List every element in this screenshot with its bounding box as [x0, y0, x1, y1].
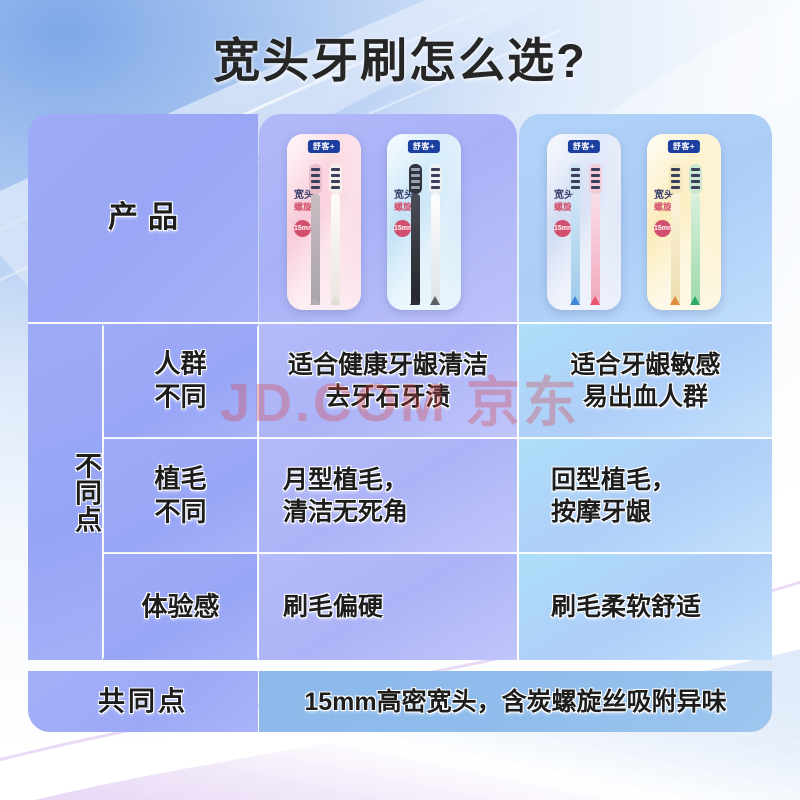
brush-tip	[410, 296, 420, 305]
brush-handle	[331, 194, 340, 304]
brush-yellow-1	[669, 164, 682, 304]
row-value-text: 适合牙龈敏感 易出血人群	[519, 349, 772, 413]
page-root: 宽头牙刷怎么选? 产品 舒客+ 宽头 螺旋 15mm	[0, 0, 800, 800]
brush-peri-1	[569, 164, 582, 304]
brush-head	[329, 164, 342, 194]
common-value-text: 15mm高密宽头，含炭螺旋丝吸附异味	[259, 686, 772, 718]
brush-head	[569, 164, 582, 194]
row-label-text: 植毛 不同	[103, 463, 258, 530]
brush-head	[309, 164, 322, 194]
brush-blue-1	[409, 164, 422, 304]
brush-tip	[310, 296, 320, 305]
brush-handle	[311, 194, 320, 304]
brush-blue-2	[429, 164, 442, 304]
brand-logo-yellow: 舒客+	[668, 140, 700, 153]
brand-logo-periwinkle: 舒客+	[568, 140, 600, 153]
brush-handle	[571, 194, 580, 304]
brush-head	[429, 164, 442, 194]
brush-head	[409, 164, 422, 194]
brush-peri-2	[589, 164, 602, 304]
brush-tip	[690, 296, 700, 305]
divider-horizontal-1	[103, 437, 772, 439]
row-label-feel: 体验感	[103, 554, 258, 660]
row-label-crowd: 人群 不同	[103, 324, 258, 438]
brush-tip	[670, 296, 680, 305]
brush-tip	[590, 296, 600, 305]
row-label-text: 人群 不同	[103, 348, 258, 415]
common-label-text: 共同点	[28, 684, 258, 719]
cell-product-label: 产品	[28, 114, 258, 322]
brush-tip	[430, 296, 440, 305]
row-value-feel-left: 刷毛偏硬	[259, 554, 517, 660]
divider-vertical-col2	[257, 326, 259, 658]
divider-horizontal-2	[103, 552, 772, 554]
row-value-crowd-right: 适合牙龈敏感 易出血人群	[519, 324, 772, 438]
divider-horizontal-top	[28, 322, 772, 324]
row-value-feel-right: 刷毛柔软舒适	[519, 554, 772, 660]
cell-common-value: 15mm高密宽头，含炭螺旋丝吸附异味	[259, 671, 772, 732]
brush-pink-1	[309, 164, 322, 304]
product-cell-left: 舒客+ 宽头 螺旋 15mm	[259, 114, 517, 322]
brand-logo-pink: 舒客+	[308, 140, 340, 153]
row-value-text: 回型植毛， 按摩牙龈	[519, 464, 772, 528]
brush-handle	[671, 194, 680, 304]
brush-head	[689, 164, 702, 194]
brush-yellow-2	[689, 164, 702, 304]
brush-tip	[570, 296, 580, 305]
brush-handle	[691, 194, 700, 304]
brush-handle	[431, 194, 440, 304]
page-title: 宽头牙刷怎么选?	[0, 22, 800, 91]
row-value-crowd-left: 适合健康牙龈清洁 去牙石牙渍	[259, 324, 517, 438]
cell-common-label: 共同点	[28, 671, 258, 732]
brush-handle	[411, 194, 420, 304]
brush-handle	[591, 194, 600, 304]
product-pack-yellow[interactable]: 舒客+ 宽头 螺旋 15mm	[647, 134, 721, 310]
product-label-text: 产品	[28, 199, 258, 237]
row-value-text: 月型植毛， 清洁无死角	[259, 464, 517, 528]
brush-head	[669, 164, 682, 194]
row-label-text: 体验感	[103, 590, 258, 623]
product-pack-pink[interactable]: 舒客+ 宽头 螺旋 15mm	[287, 134, 361, 310]
brush-pink-2	[329, 164, 342, 304]
divider-vertical-col3	[517, 326, 519, 658]
divider-vertical-label	[102, 326, 104, 658]
row-value-bristle-left: 月型植毛， 清洁无死角	[259, 439, 517, 553]
product-cell-right: 舒客+ 宽头 螺旋 15mm	[519, 114, 772, 322]
cell-group-label: 不同点	[28, 324, 102, 660]
row-value-bristle-right: 回型植毛， 按摩牙龈	[519, 439, 772, 553]
product-pack-periwinkle[interactable]: 舒客+ 宽头 螺旋 15mm	[547, 134, 621, 310]
row-value-text: 刷毛柔软舒适	[519, 591, 772, 623]
brand-logo-blue: 舒客+	[408, 140, 440, 153]
row-label-bristle: 植毛 不同	[103, 439, 258, 553]
brush-tip	[330, 296, 340, 305]
brush-head	[589, 164, 602, 194]
product-pack-blue[interactable]: 舒客+ 宽头 螺旋 15mm	[387, 134, 461, 310]
row-value-text: 适合健康牙龈清洁 去牙石牙渍	[259, 349, 517, 413]
group-label-text: 不同点	[28, 452, 102, 533]
comparison-table: 产品 舒客+ 宽头 螺旋 15mm	[28, 114, 772, 732]
row-value-text: 刷毛偏硬	[259, 591, 517, 623]
